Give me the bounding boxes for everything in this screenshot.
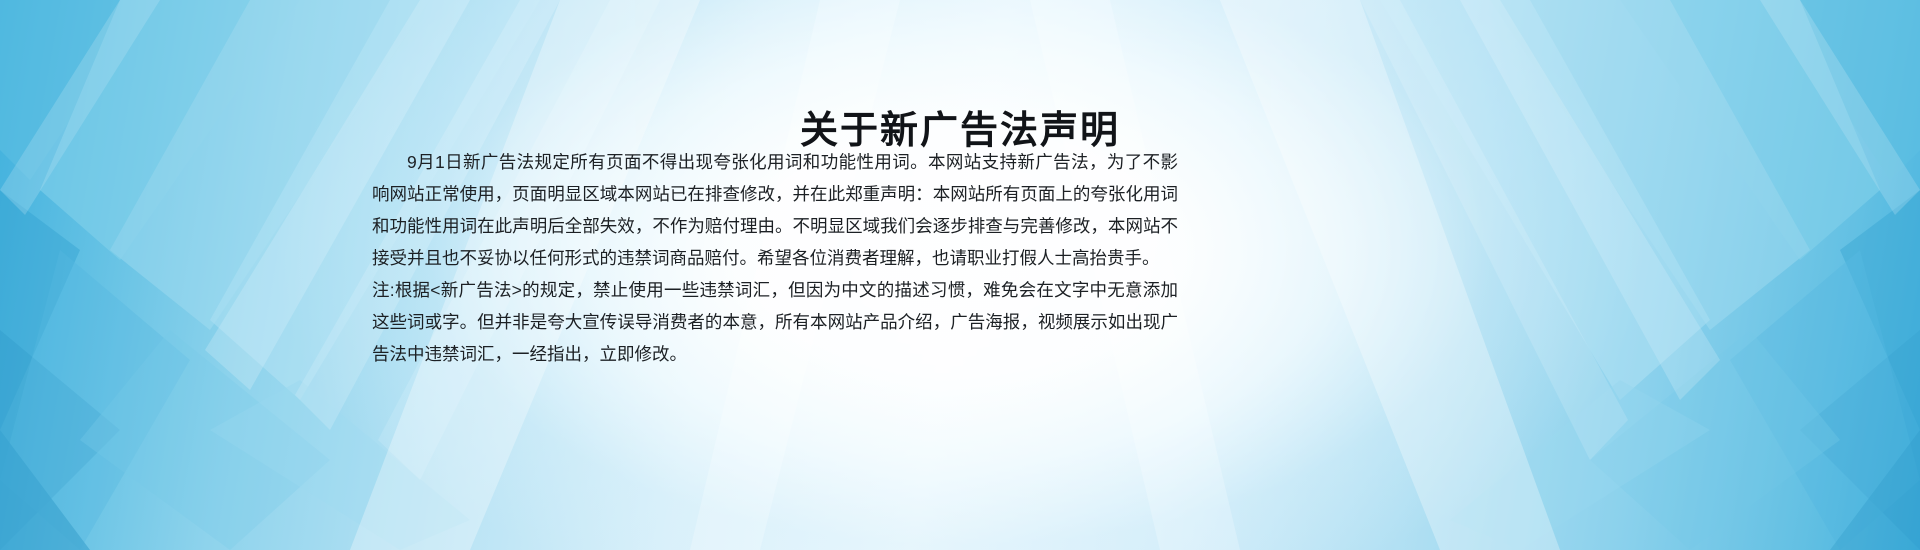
statement-body: 9月1日新广告法规定所有页面不得出现夸张化用词和功能性用词。本网站支持新广告法，… [372, 146, 1178, 370]
statement-content: 关于新广告法声明 9月1日新广告法规定所有页面不得出现夸张化用词和功能性用词。本… [0, 0, 1920, 550]
statement-paragraph-2: 注:根据<新广告法>的规定，禁止使用一些违禁词汇，但因为中文的描述习惯，难免会在… [372, 274, 1178, 370]
statement-paragraph-1: 9月1日新广告法规定所有页面不得出现夸张化用词和功能性用词。本网站支持新广告法，… [372, 146, 1178, 274]
advertising-law-statement-banner: 关于新广告法声明 9月1日新广告法规定所有页面不得出现夸张化用词和功能性用词。本… [0, 0, 1920, 550]
